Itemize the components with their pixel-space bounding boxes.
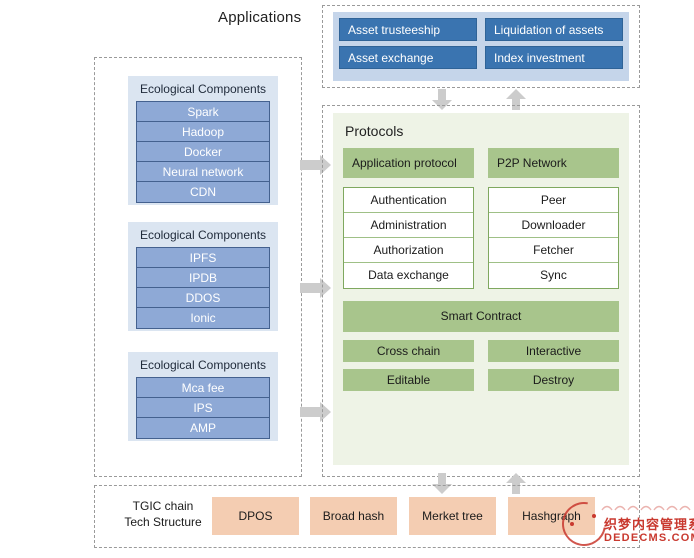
protocol-item-downloader[interactable]: Downloader (489, 213, 618, 238)
protocol-column-application: Application protocol Authentication Admi… (343, 148, 474, 289)
protocol-item-authentication[interactable]: Authentication (344, 188, 473, 213)
ecological-panel-2-list: IPFS IPDB DDOS Ionic (136, 247, 270, 329)
eco-item-mca-fee[interactable]: Mca fee (137, 378, 269, 398)
protocols-columns: Application protocol Authentication Admi… (343, 148, 619, 289)
app-index-investment[interactable]: Index investment (485, 46, 623, 69)
protocols-panel: Protocols Application protocol Authentic… (333, 113, 629, 465)
smart-contract-row: Editable Destroy (343, 369, 619, 391)
app-liquidation-of-assets[interactable]: Liquidation of assets (485, 18, 623, 41)
protocol-item-sync[interactable]: Sync (489, 263, 618, 288)
smart-contract-items: Cross chain Interactive Editable Destroy (343, 340, 619, 391)
applications-title: Applications (218, 9, 301, 26)
eco-item-hadoop[interactable]: Hadoop (137, 122, 269, 142)
tgic-label-line2: Tech Structure (108, 514, 218, 530)
applications-row: Asset exchange Index investment (339, 46, 623, 69)
tgic-label: TGIC chain Tech Structure (108, 498, 218, 530)
eco-item-spark[interactable]: Spark (137, 102, 269, 122)
ecological-panel-3-title: Ecological Components (136, 357, 270, 374)
smart-contract-editable[interactable]: Editable (343, 369, 474, 391)
app-asset-exchange[interactable]: Asset exchange (339, 46, 477, 69)
eco-item-ipdb[interactable]: IPDB (137, 268, 269, 288)
eco-item-docker[interactable]: Docker (137, 142, 269, 162)
tgic-label-line1: TGIC chain (108, 498, 218, 514)
eco-item-neural-network[interactable]: Neural network (137, 162, 269, 182)
eco-item-cdn[interactable]: CDN (137, 182, 269, 202)
smart-contract-destroy[interactable]: Destroy (488, 369, 619, 391)
protocol-column-p2p: P2P Network Peer Downloader Fetcher Sync (488, 148, 619, 289)
tgic-item-broad-hash[interactable]: Broad hash (310, 497, 397, 535)
ecological-panel-1-title: Ecological Components (136, 81, 270, 98)
smart-contract-cross-chain[interactable]: Cross chain (343, 340, 474, 362)
protocol-item-data-exchange[interactable]: Data exchange (344, 263, 473, 288)
protocol-item-peer[interactable]: Peer (489, 188, 618, 213)
applications-panel: Asset trusteeship Liquidation of assets … (333, 12, 629, 81)
ecological-panel-1: Ecological Components Spark Hadoop Docke… (128, 76, 278, 205)
applications-row: Asset trusteeship Liquidation of assets (339, 18, 623, 41)
protocol-item-authorization[interactable]: Authorization (344, 238, 473, 263)
tgic-item-dpos[interactable]: DPOS (212, 497, 299, 535)
tgic-item-merket-tree[interactable]: Merket tree (409, 497, 496, 535)
ecological-panel-2-title: Ecological Components (136, 227, 270, 244)
protocol-header-application-protocol[interactable]: Application protocol (343, 148, 474, 178)
ecological-panel-2: Ecological Components IPFS IPDB DDOS Ion… (128, 222, 278, 331)
ecological-panel-3: Ecological Components Mca fee IPS AMP (128, 352, 278, 441)
tgic-item-hashgraph[interactable]: Hashgraph (508, 497, 595, 535)
ecological-panel-1-list: Spark Hadoop Docker Neural network CDN (136, 101, 270, 203)
eco-item-ionic[interactable]: Ionic (137, 308, 269, 328)
protocols-title: Protocols (345, 123, 619, 139)
protocol-item-administration[interactable]: Administration (344, 213, 473, 238)
eco-item-ipfs[interactable]: IPFS (137, 248, 269, 268)
smart-contract-interactive[interactable]: Interactive (488, 340, 619, 362)
app-asset-trusteeship[interactable]: Asset trusteeship (339, 18, 477, 41)
protocol-application-list: Authentication Administration Authorizat… (343, 187, 474, 289)
ecological-panel-3-list: Mca fee IPS AMP (136, 377, 270, 439)
eco-item-amp[interactable]: AMP (137, 418, 269, 438)
eco-item-ddos[interactable]: DDOS (137, 288, 269, 308)
protocol-header-p2p-network[interactable]: P2P Network (488, 148, 619, 178)
protocol-item-fetcher[interactable]: Fetcher (489, 238, 618, 263)
eco-item-ips[interactable]: IPS (137, 398, 269, 418)
smart-contract-box[interactable]: Smart Contract (343, 301, 619, 332)
smart-contract-row: Cross chain Interactive (343, 340, 619, 362)
protocol-p2p-list: Peer Downloader Fetcher Sync (488, 187, 619, 289)
architecture-diagram: Applications Asset trusteeship Liquidati… (0, 0, 694, 558)
